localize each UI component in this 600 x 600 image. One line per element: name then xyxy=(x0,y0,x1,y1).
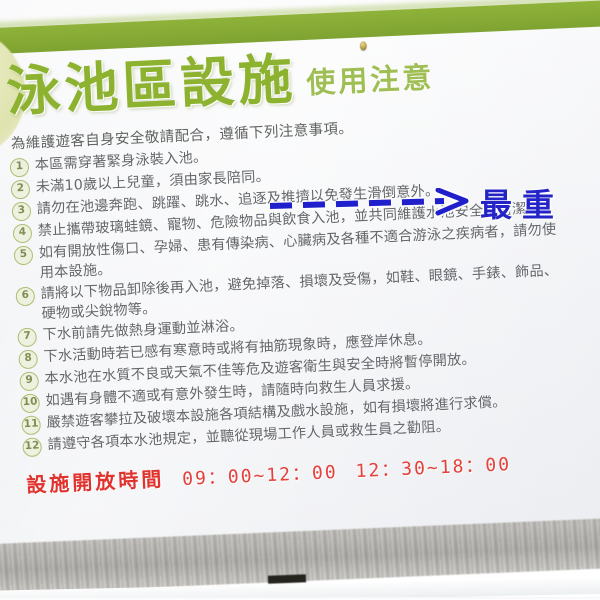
ground-dark-spot xyxy=(268,574,306,583)
rule-number: 4 xyxy=(13,224,33,244)
opening-hours-afternoon: 12：30~18：00 xyxy=(355,450,512,483)
opening-hours-morning: 09：00~12：00 xyxy=(182,458,339,491)
page-subtitle: 使用注意 xyxy=(305,54,435,106)
title-row: 泳池區設施 使用注意 xyxy=(5,37,600,119)
sign-content: 泳池區設施 使用注意 為維護遊客自身安全敬請配合，遵循下列注意事項。 1 本區需… xyxy=(5,37,600,498)
rule-number: 3 xyxy=(12,202,32,222)
rule-number: 2 xyxy=(11,180,31,200)
rule-number: 12 xyxy=(22,437,42,457)
page-title: 泳池區設施 xyxy=(5,52,297,119)
rule-number: 8 xyxy=(18,349,38,369)
rule-number: 11 xyxy=(21,415,41,435)
rule-number: 9 xyxy=(19,371,39,391)
rule-number: 5 xyxy=(14,246,34,266)
screenshot-root: 泳池區設施 使用注意 為維護遊客自身安全敬請配合，遵循下列注意事項。 1 本區需… xyxy=(0,0,600,600)
opening-hours-label: 設施開放時間 xyxy=(26,463,165,498)
sign-board: 泳池區設施 使用注意 為維護遊客自身安全敬請配合，遵循下列注意事項。 1 本區需… xyxy=(0,0,600,588)
rule-number: 7 xyxy=(17,327,37,347)
rule-number: 1 xyxy=(10,158,30,178)
rules-list: 1 本區需穿著緊身泳裝入池。 2 未滿10歲以上兒童，須由家長陪同。 3 請勿在… xyxy=(9,128,600,457)
rule-number: 6 xyxy=(15,287,35,307)
rule-number: 10 xyxy=(20,393,40,413)
